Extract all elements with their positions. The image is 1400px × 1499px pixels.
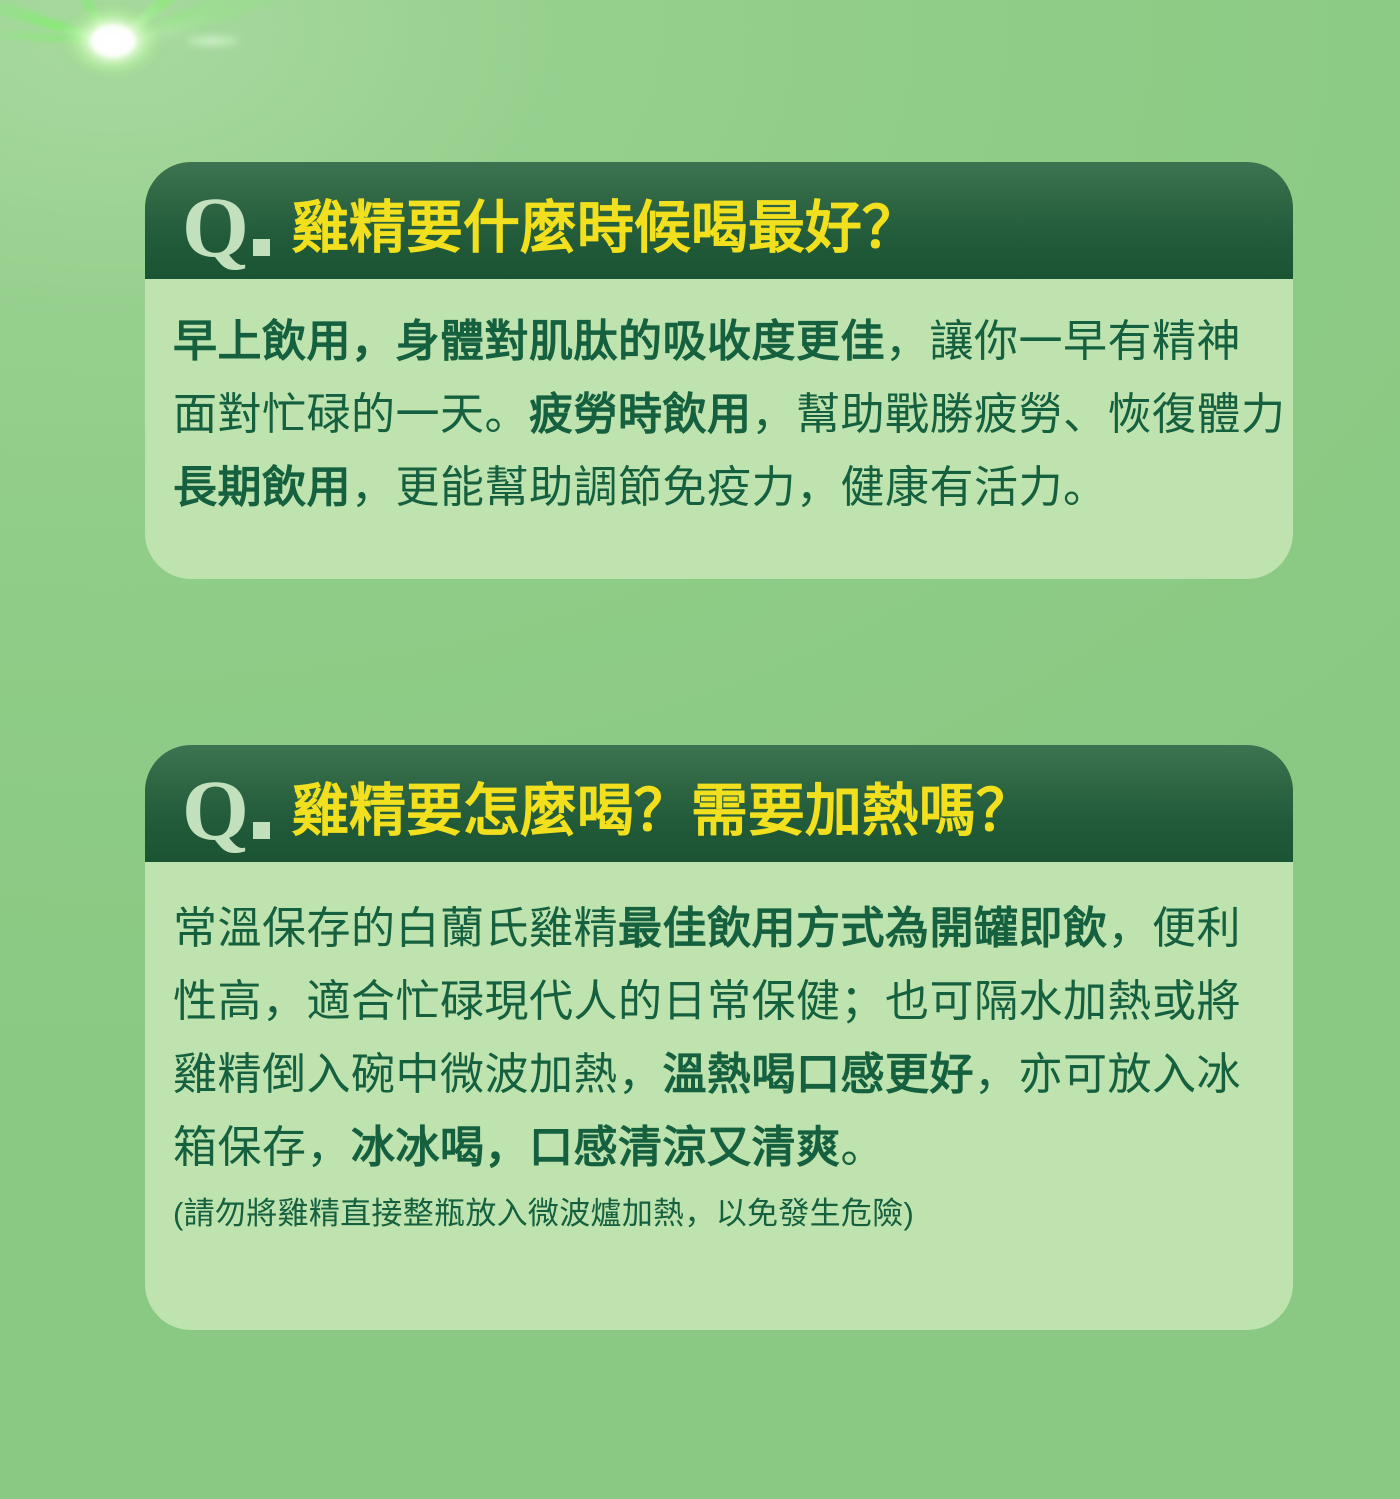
body-text: ，讓你一早有精神 [885,317,1241,366]
body-text: 常溫保存的白蘭氏雞精 [173,904,618,953]
faq-line: 雞精倒入碗中微波加熱，溫熱喝口感更好，亦可放入冰 [173,1038,1271,1111]
q-period-icon [253,822,270,839]
body-text: 面對忙碌的一天。 [173,390,529,439]
body-text: 性高，適合忙碌現代人的日常保健；也可隔水加熱或將 [173,977,1241,1026]
emphasis-text: 早上飲用，身體對肌肽的吸收度更佳 [173,317,885,366]
body-text: ，亦可放入冰 [974,1050,1241,1099]
faq-line: 面對忙碌的一天。疲勞時飲用，幫助戰勝疲勞、恢復體力 [173,378,1271,451]
faq-card-1-body: 早上飲用，身體對肌肽的吸收度更佳，讓你一早有精神 面對忙碌的一天。疲勞時飲用，幫… [145,279,1293,579]
emphasis-text: 長期飲用 [173,463,351,512]
emphasis-text: 疲勞時飲用 [529,390,752,439]
faq-card-1-title: 雞精要什麼時候喝最好？ [292,182,919,264]
faq-line: 性高，適合忙碌現代人的日常保健；也可隔水加熱或將 [173,965,1271,1038]
faq-line: 早上飲用，身體對肌肽的吸收度更佳，讓你一早有精神 [173,305,1271,378]
body-text: 雞精倒入碗中微波加熱， [173,1050,663,1099]
faq-card-2-title: 雞精要怎麼喝？需要加熱嗎？ [292,765,1033,847]
emphasis-text: 最佳飲用方式為開罐即飲 [618,904,1108,953]
question-mark-label: Q [182,767,270,853]
body-text: ，幫助戰勝疲勞、恢復體力 [752,390,1286,439]
faq-line: 長期飲用，更能幫助調節免疫力，健康有活力。 [173,451,1271,524]
faq-card-2-note: (請勿將雞精直接整瓶放入微波爐加熱，以免發生危險) [173,1188,1271,1240]
emphasis-text: 冰冰喝，口感清涼又清爽 [351,1123,841,1172]
body-text: ，便利 [1108,904,1242,953]
faq-card-2: Q 雞精要怎麼喝？需要加熱嗎？ 常溫保存的白蘭氏雞精最佳飲用方式為開罐即飲，便利… [145,745,1293,1330]
faq-line: 常溫保存的白蘭氏雞精最佳飲用方式為開罐即飲，便利 [173,892,1271,965]
body-text: ，更能幫助調節免疫力，健康有活力。 [351,463,1108,512]
q-letter: Q [182,184,247,270]
faq-line: 箱保存，冰冰喝，口感清涼又清爽。 [173,1111,1271,1184]
q-period-icon [253,239,270,256]
emphasis-text: 溫熱喝口感更好 [663,1050,975,1099]
faq-card-2-header: Q 雞精要怎麼喝？需要加熱嗎？ [145,745,1293,862]
faq-card-2-body: 常溫保存的白蘭氏雞精最佳飲用方式為開罐即飲，便利 性高，適合忙碌現代人的日常保健… [145,862,1293,1330]
question-mark-label: Q [182,184,270,270]
body-text: 。 [841,1123,886,1172]
faq-card-1-header: Q 雞精要什麼時候喝最好？ [145,162,1293,279]
q-letter: Q [182,767,247,853]
faq-card-1: Q 雞精要什麼時候喝最好？ 早上飲用，身體對肌肽的吸收度更佳，讓你一早有精神 面… [145,162,1293,579]
body-text: 箱保存， [173,1123,351,1172]
